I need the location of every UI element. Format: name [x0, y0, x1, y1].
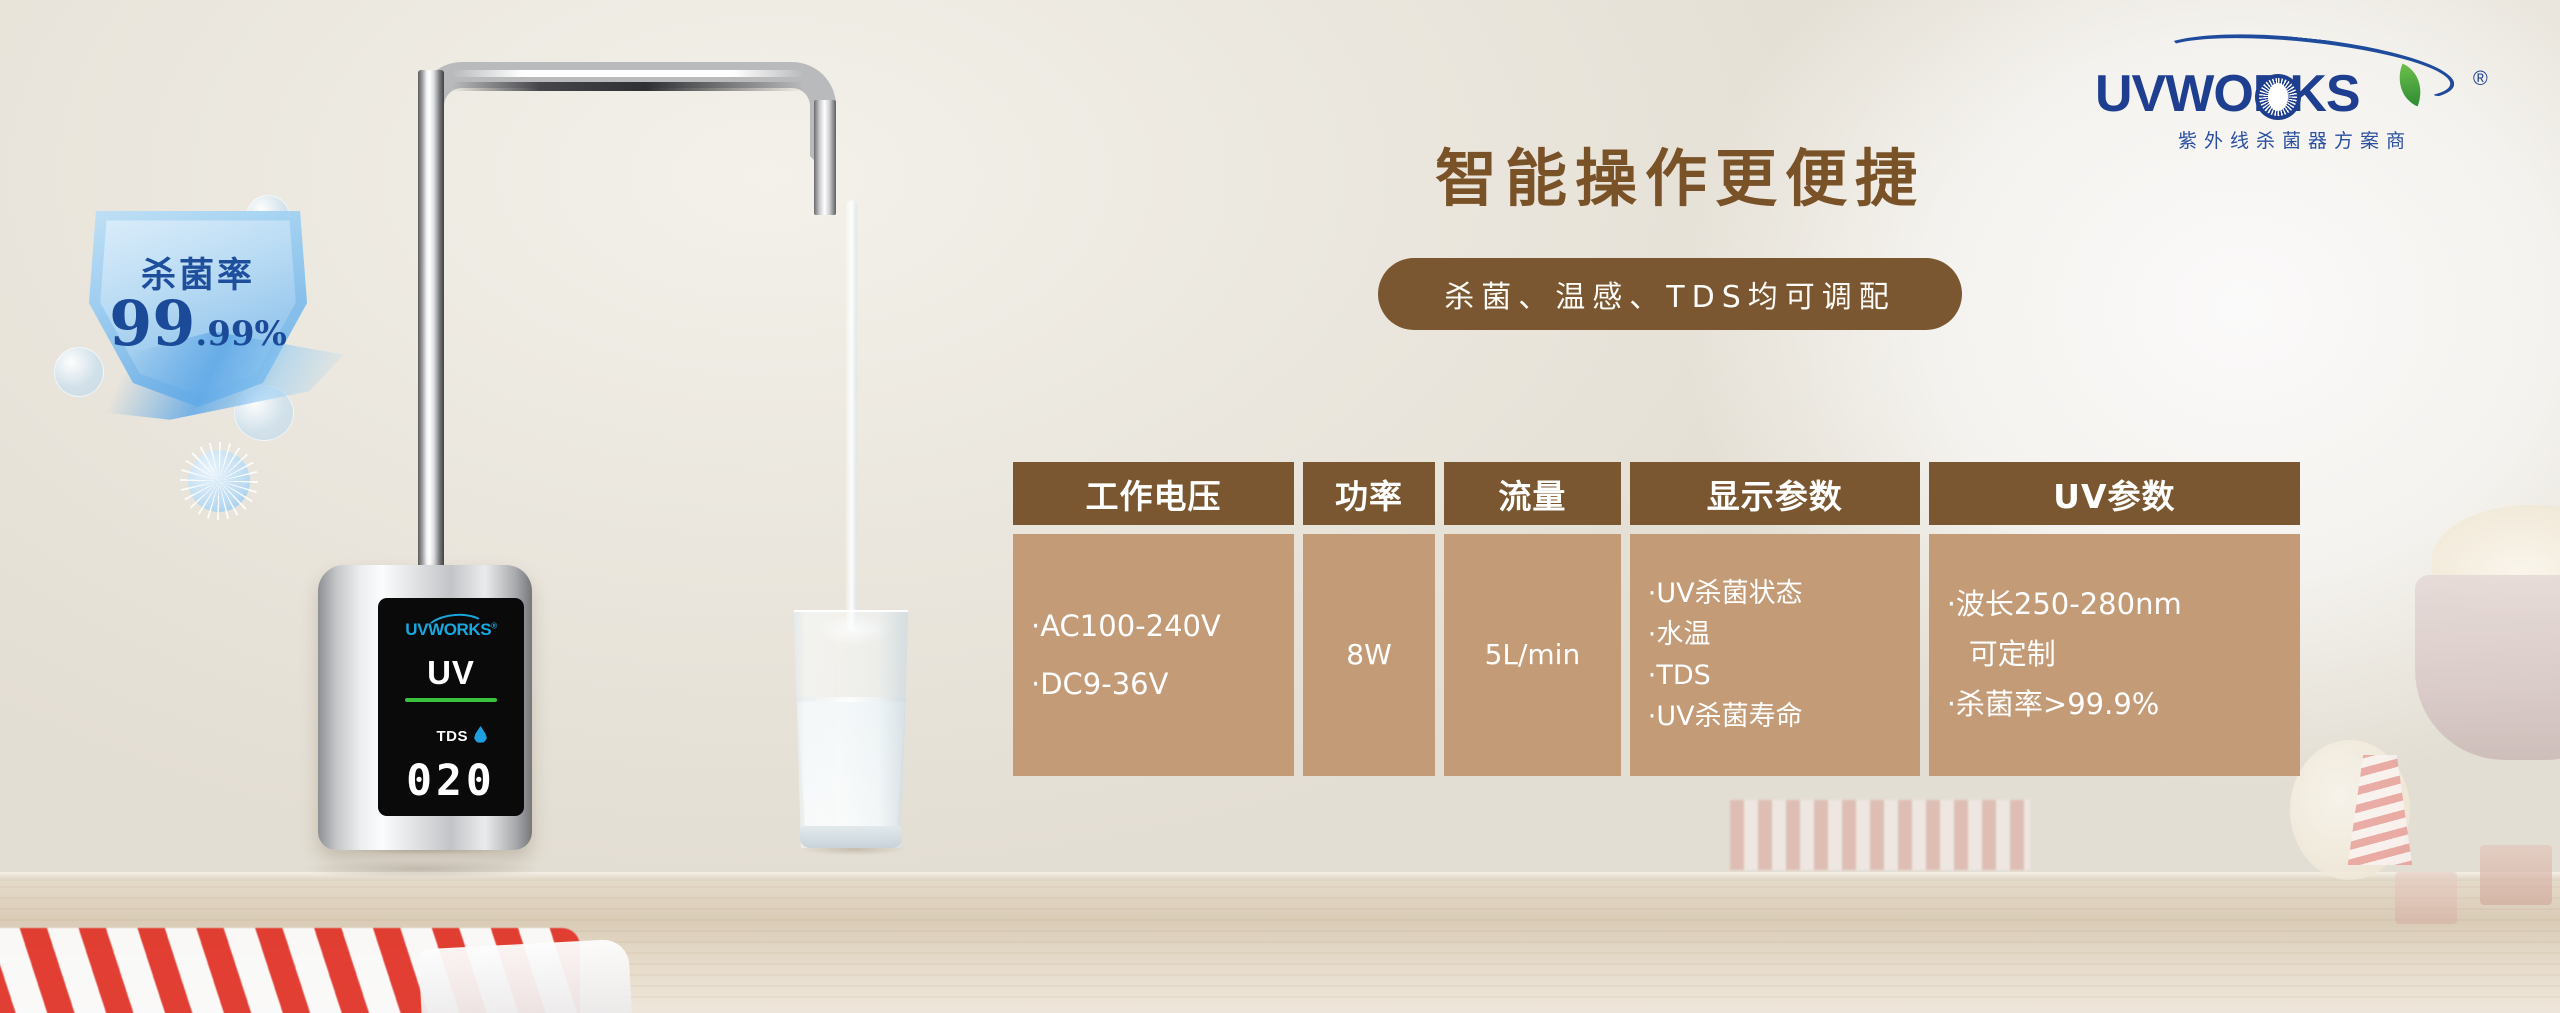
- feature-pill: 杀菌、温感、TDS均可调配: [1378, 258, 1962, 330]
- spec-header: UV参数: [1929, 462, 2300, 525]
- spec-cell: 5L/min: [1444, 534, 1621, 776]
- spec-cell: ·波长250-280nm 可定制 ·杀菌率>99.9%: [1929, 534, 2300, 776]
- brand-tagline: 紫外线杀菌器方案商: [2095, 126, 2495, 153]
- spec-header: 流量: [1444, 462, 1621, 525]
- spec-column-uv: UV参数 ·波长250-280nm 可定制 ·杀菌率>99.9%: [1929, 462, 2300, 776]
- spec-cell: ·AC100-240V ·DC9-36V: [1013, 534, 1294, 776]
- feature-pill-label: 杀菌、温感、TDS均可调配: [1444, 272, 1895, 316]
- page-title: 智能操作更便捷: [1370, 128, 1990, 218]
- spec-header: 工作电压: [1013, 462, 1294, 525]
- sunburst-icon: [2255, 74, 2301, 120]
- spec-line: ·TDS: [1648, 655, 1711, 696]
- spec-line: ·波长250-280nm: [1947, 580, 2182, 630]
- spec-line: 5L/min: [1485, 633, 1581, 676]
- spec-line: ·DC9-36V: [1031, 655, 1168, 713]
- spec-line: ·水温: [1648, 614, 1711, 655]
- spec-header: 功率: [1303, 462, 1435, 525]
- spec-column-power: 功率 8W: [1303, 462, 1435, 776]
- spec-column-display: 显示参数 ·UV杀菌状态 ·水温 ·TDS ·UV杀菌寿命: [1630, 462, 1920, 776]
- spec-column-voltage: 工作电压 ·AC100-240V ·DC9-36V: [1013, 462, 1294, 776]
- spec-line: 可定制: [1947, 630, 2056, 680]
- marketing-content: UVWORKS ® 紫外线杀菌器方案商 智能操作更便捷 杀菌、温感、TDS均可调…: [0, 0, 2560, 1013]
- spec-line: ·AC100-240V: [1031, 597, 1221, 655]
- spec-line: ·UV杀菌寿命: [1648, 696, 1803, 737]
- spec-column-flow: 流量 5L/min: [1444, 462, 1621, 776]
- registered-mark: ®: [2473, 68, 2488, 91]
- spec-line: ·杀菌率>99.9%: [1947, 680, 2160, 730]
- spec-cell: ·UV杀菌状态 ·水温 ·TDS ·UV杀菌寿命: [1630, 534, 1920, 776]
- spec-line: 8W: [1346, 633, 1392, 676]
- brand-logo: UVWORKS ® 紫外线杀菌器方案商: [2095, 38, 2495, 148]
- spec-line: ·UV杀菌状态: [1648, 573, 1803, 614]
- spec-table: 工作电压 ·AC100-240V ·DC9-36V 功率 8W 流量 5L/mi…: [1013, 462, 2300, 776]
- spec-header: 显示参数: [1630, 462, 1920, 525]
- spec-cell: 8W: [1303, 534, 1435, 776]
